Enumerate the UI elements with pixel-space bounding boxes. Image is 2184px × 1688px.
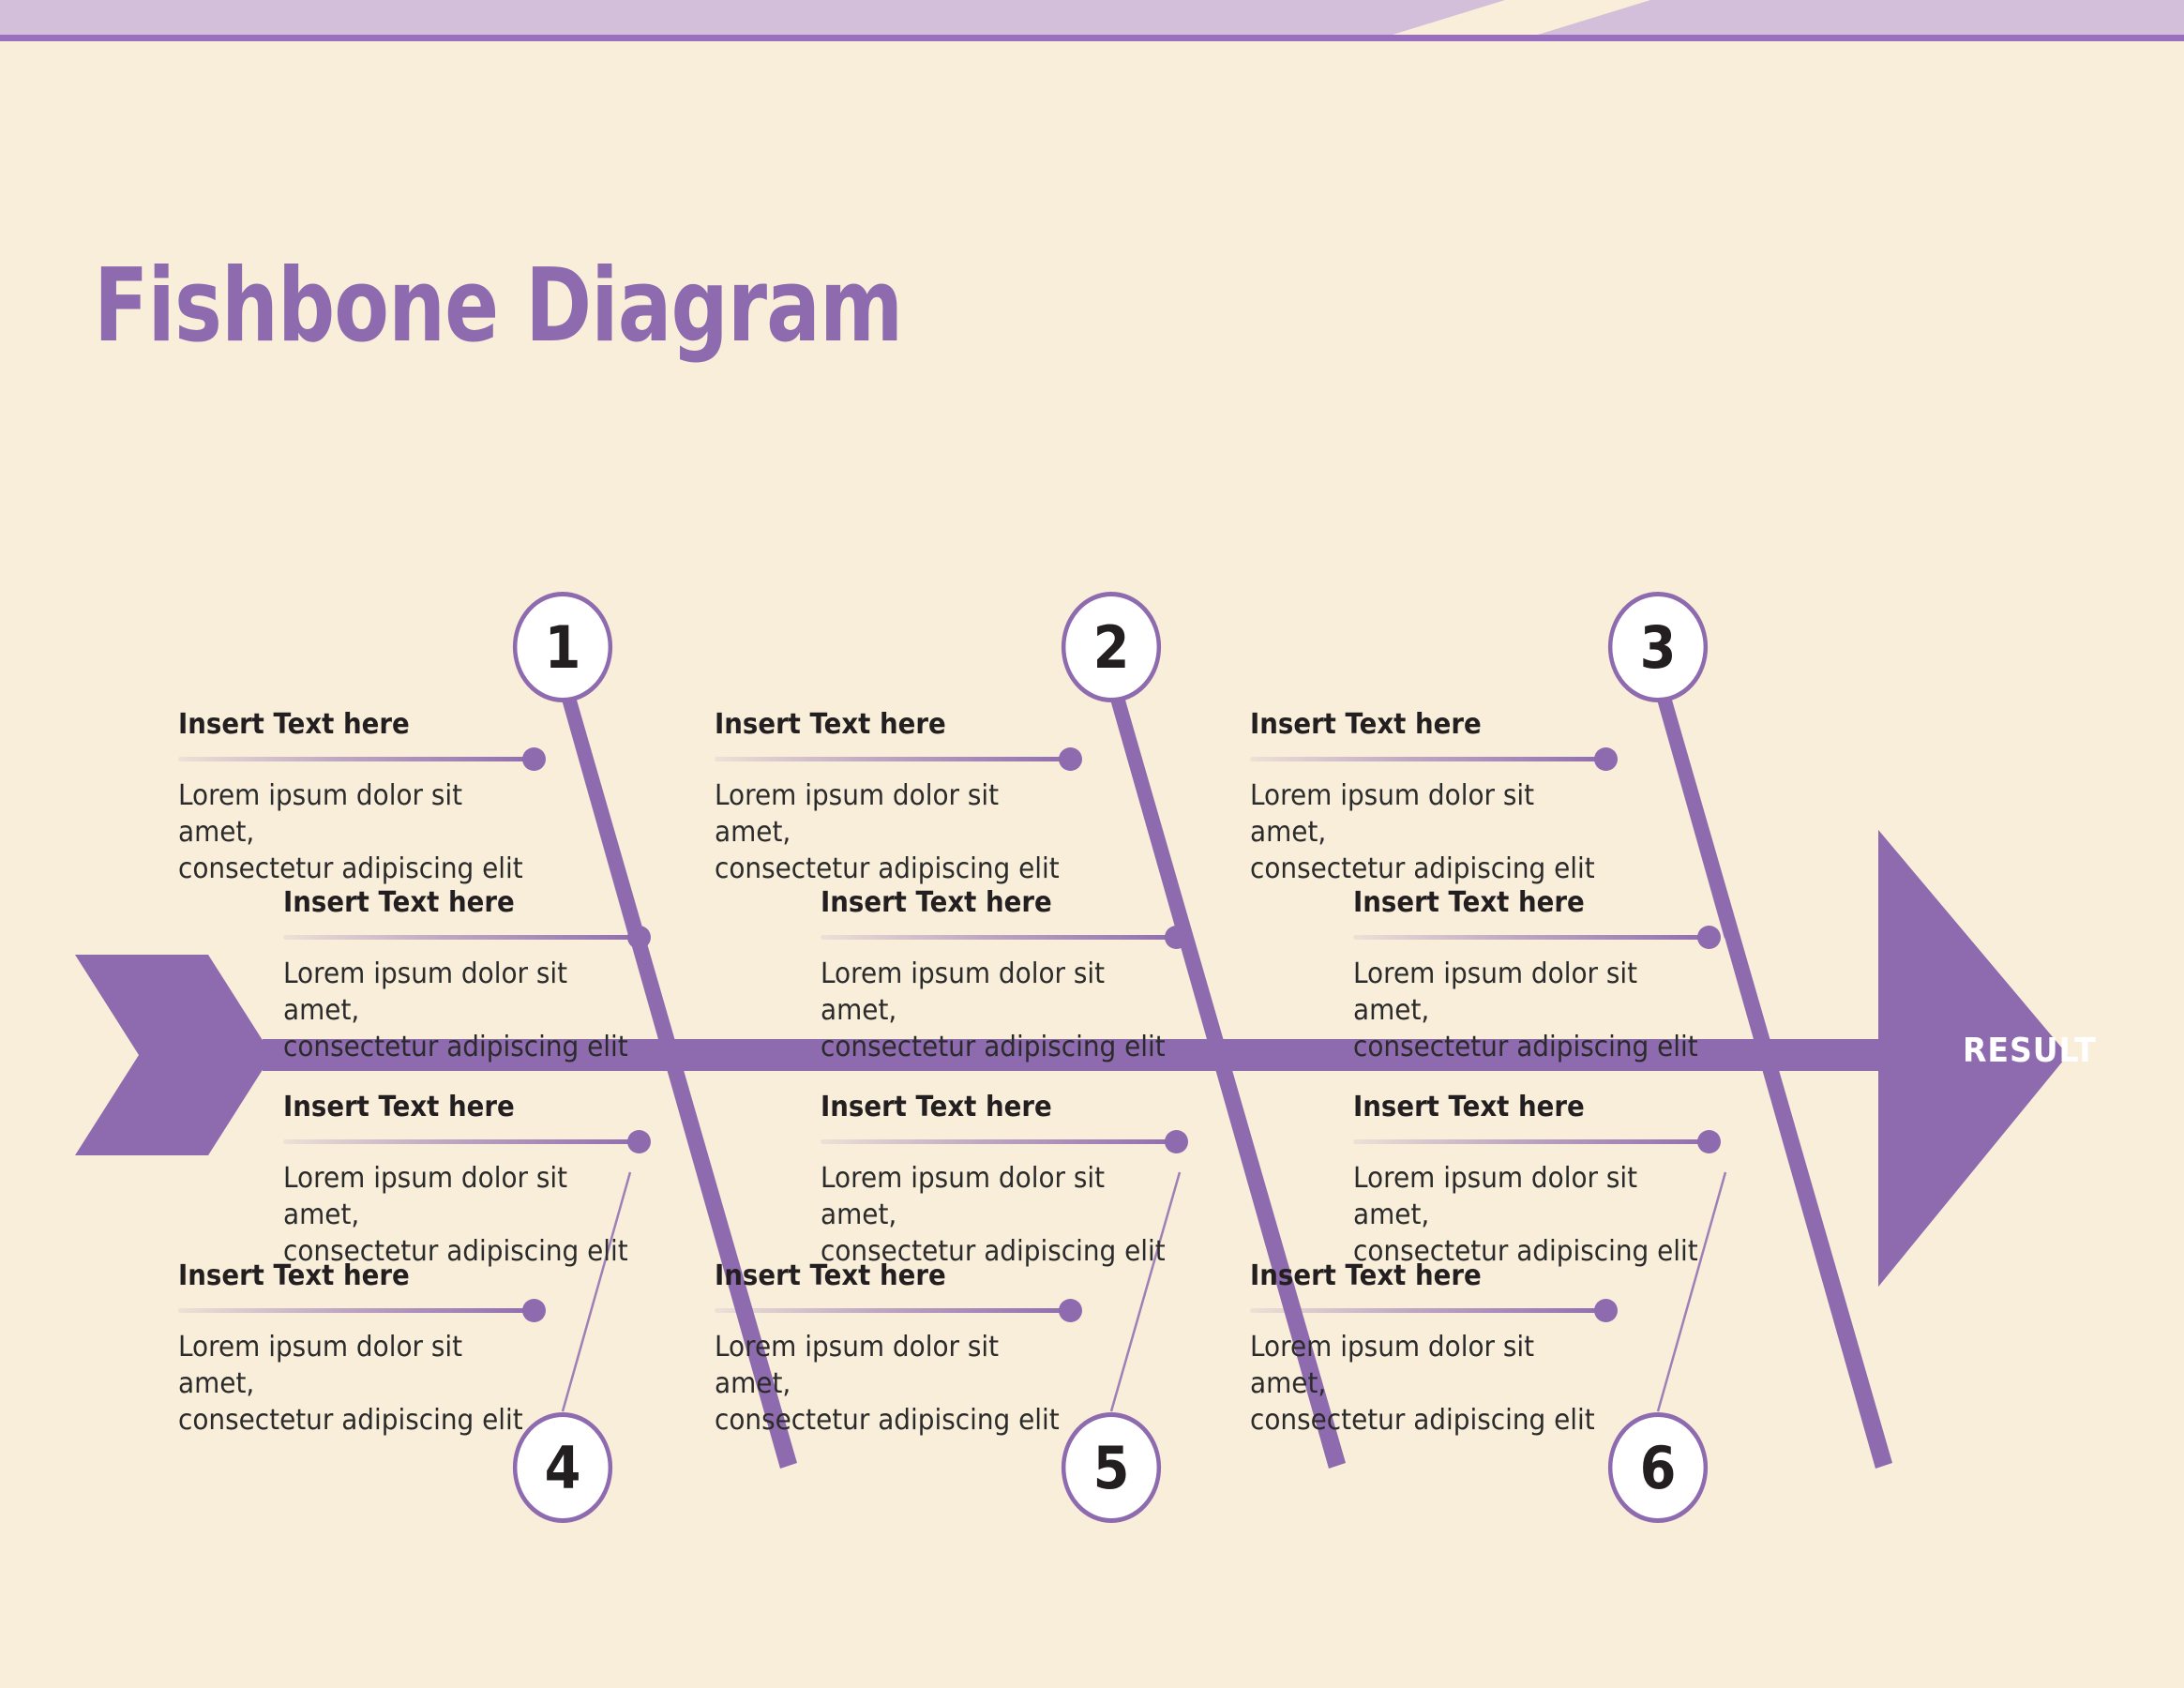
cause-body: Lorem ipsum dolor sit amet, consectetur … xyxy=(715,1329,1072,1439)
cause-title: Insert Text here xyxy=(178,1259,532,1292)
cause-body: Lorem ipsum dolor sit amet, consectetur … xyxy=(178,1329,535,1439)
cause-title: Insert Text here xyxy=(178,708,532,741)
cause-rule xyxy=(821,935,1182,940)
cause-title: Insert Text here xyxy=(1353,1091,1707,1123)
cause-rule xyxy=(1250,1308,1611,1313)
cause-title: Insert Text here xyxy=(283,886,637,919)
cause-block-2-outer[interactable]: Insert Text here Lorem ipsum dolor sit a… xyxy=(715,708,1099,887)
cause-body: Lorem ipsum dolor sit amet, consectetur … xyxy=(283,1160,640,1270)
result-label: RESULT xyxy=(1963,1032,2097,1070)
cause-block-6-outer[interactable]: Insert Text here Lorem ipsum dolor sit a… xyxy=(1250,1259,1634,1439)
branch-bubble-2-number: 2 xyxy=(1093,613,1130,682)
cause-block-3-inner[interactable]: Insert Text here Lorem ipsum dolor sit a… xyxy=(1353,886,1738,1065)
cause-block-4-inner[interactable]: Insert Text here Lorem ipsum dolor sit a… xyxy=(283,1091,668,1270)
cause-title: Insert Text here xyxy=(1353,886,1707,919)
cause-body: Lorem ipsum dolor sit amet, consectetur … xyxy=(1353,956,1710,1065)
cause-block-2-inner[interactable]: Insert Text here Lorem ipsum dolor sit a… xyxy=(821,886,1205,1065)
cause-title: Insert Text here xyxy=(1250,708,1604,741)
cause-rule xyxy=(178,757,539,761)
fish-tail xyxy=(75,955,272,1155)
cause-body: Lorem ipsum dolor sit amet, consectetur … xyxy=(715,777,1072,887)
branch-bubble-6-number: 6 xyxy=(1640,1434,1677,1502)
cause-rule xyxy=(715,757,1076,761)
branch-bubble-3-number: 3 xyxy=(1640,613,1677,682)
cause-block-6-inner[interactable]: Insert Text here Lorem ipsum dolor sit a… xyxy=(1353,1091,1738,1270)
branch-bubble-2[interactable]: 2 xyxy=(1062,592,1161,702)
cause-title: Insert Text here xyxy=(283,1091,637,1123)
cause-body: Lorem ipsum dolor sit amet, consectetur … xyxy=(283,956,640,1065)
cause-body: Lorem ipsum dolor sit amet, consectetur … xyxy=(1250,1329,1607,1439)
cause-title: Insert Text here xyxy=(821,1091,1174,1123)
cause-block-4-outer[interactable]: Insert Text here Lorem ipsum dolor sit a… xyxy=(178,1259,563,1439)
branch-bubble-1[interactable]: 1 xyxy=(513,592,612,702)
cause-block-1-outer[interactable]: Insert Text here Lorem ipsum dolor sit a… xyxy=(178,708,563,887)
cause-block-3-outer[interactable]: Insert Text here Lorem ipsum dolor sit a… xyxy=(1250,708,1634,887)
cause-title: Insert Text here xyxy=(821,886,1174,919)
cause-title: Insert Text here xyxy=(715,708,1068,741)
cause-rule xyxy=(1353,1139,1714,1144)
cause-title: Insert Text here xyxy=(1250,1259,1604,1292)
cause-title: Insert Text here xyxy=(715,1259,1068,1292)
cause-body: Lorem ipsum dolor sit amet, consectetur … xyxy=(821,1160,1178,1270)
fishbone-diagram-page: Fishbone Diagram RESULT 1 2 xyxy=(0,0,2184,1688)
branch-bubble-4-number: 4 xyxy=(545,1434,581,1502)
cause-body: Lorem ipsum dolor sit amet, consectetur … xyxy=(821,956,1178,1065)
cause-rule xyxy=(283,1139,644,1144)
cause-rule xyxy=(283,935,644,940)
rib-3 xyxy=(1656,690,1892,1469)
cause-body: Lorem ipsum dolor sit amet, consectetur … xyxy=(178,777,535,887)
cause-rule xyxy=(715,1308,1076,1313)
cause-rule xyxy=(178,1308,539,1313)
cause-rule xyxy=(1250,757,1611,761)
branch-bubble-3[interactable]: 3 xyxy=(1608,592,1708,702)
cause-rule xyxy=(821,1139,1182,1144)
branch-bubble-1-number: 1 xyxy=(545,613,581,682)
cause-block-5-inner[interactable]: Insert Text here Lorem ipsum dolor sit a… xyxy=(821,1091,1205,1270)
cause-rule xyxy=(1353,935,1714,940)
cause-body: Lorem ipsum dolor sit amet, consectetur … xyxy=(1353,1160,1710,1270)
cause-body: Lorem ipsum dolor sit amet, consectetur … xyxy=(1250,777,1607,887)
cause-block-5-outer[interactable]: Insert Text here Lorem ipsum dolor sit a… xyxy=(715,1259,1099,1439)
cause-block-1-inner[interactable]: Insert Text here Lorem ipsum dolor sit a… xyxy=(283,886,668,1065)
branch-bubble-5-number: 5 xyxy=(1093,1434,1130,1502)
